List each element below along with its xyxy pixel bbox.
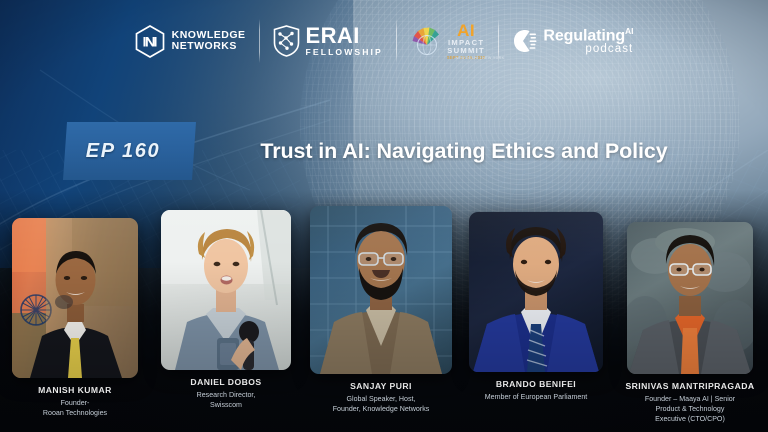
speaker-meta: MANISH KUMAR Founder- Rooan Technologies <box>36 385 114 419</box>
logo-erai-fellowship[interactable]: ERAI FELLOWSHIP <box>260 18 396 64</box>
sanjay-puri-photo <box>310 206 452 374</box>
speaker-meta: SANJAY PURI Global Speaker, Host, Founde… <box>331 381 432 415</box>
daniel-dobos-photo <box>161 210 291 370</box>
speaker-name: MANISH KUMAR <box>38 385 112 395</box>
colorful-fan-globe-icon <box>410 21 444 61</box>
speaker-name: BRANDO BENIFEI <box>485 379 588 389</box>
logo-summit-title: AI <box>447 22 485 39</box>
logo-summit-line3: SUMMIT <box>447 47 485 55</box>
speaker-card: BRANDO BENIFEI Member of European Parlia… <box>460 212 612 403</box>
manish-kumar-photo <box>12 218 138 378</box>
speaker-card: MANISH KUMAR Founder- Rooan Technologies <box>0 218 150 419</box>
logo-knowledge-networks[interactable]: KNOWLEDGE NETWORKS <box>122 18 259 64</box>
dotted-speech-mark-icon <box>512 28 538 54</box>
episode-number-label: EP 160 <box>86 140 160 163</box>
episode-title: Trust in AI: Navigating Ethics and Polic… <box>260 139 667 164</box>
speaker-meta: BRANDO BENIFEI Member of European Parlia… <box>483 379 590 403</box>
speaker-role: Founder – Maaya AI | Senior Product & Te… <box>625 395 754 424</box>
speaker-card: SANJAY PURI Global Speaker, Host, Founde… <box>302 206 460 415</box>
speaker-role: Founder- Rooan Technologies <box>38 399 112 419</box>
hexagon-kn-icon <box>135 25 165 58</box>
speaker-role: Member of European Parliament <box>485 393 588 403</box>
shield-network-icon <box>273 25 300 57</box>
podcast-episode-banner: KNOWLEDGE NETWORKS <box>0 0 768 432</box>
episode-title-wrapper: Trust in AI: Navigating Ethics and Polic… <box>196 122 750 180</box>
speaker-meta: SRINIVAS MANTRIPRAGADA Founder – Maaya A… <box>623 381 756 424</box>
logo-kn-line2: NETWORKS <box>172 41 246 52</box>
speaker-meta: DANIEL DOBOS Research Director, Swisscom <box>188 377 263 411</box>
speaker-card: SRINIVAS MANTRIPRAGADA Founder – Maaya A… <box>612 222 768 424</box>
speaker-role: Research Director, Swisscom <box>190 391 261 411</box>
logo-regai-subtitle: podcast <box>543 44 633 56</box>
episode-number-badge: EP 160 <box>50 122 196 180</box>
summit-sub-line2: GLOBAL IMPACT | AI FOR ALL <box>432 61 528 65</box>
speaker-name: SANJAY PURI <box>333 381 430 391</box>
speaker-card: DANIEL DOBOS Research Director, Swisscom <box>150 210 302 411</box>
logo-erai-title: ERAI <box>306 25 383 47</box>
sponsor-logo-strip: KNOWLEDGE NETWORKS <box>0 10 768 72</box>
speaker-role: Global Speaker, Host, Founder, Knowledge… <box>333 395 430 415</box>
episode-title-band-content: EP 160 Trust in AI: Navigating Ethics an… <box>50 122 750 180</box>
brando-benifei-photo <box>469 212 603 372</box>
logo-regai-title-sup: AI <box>625 26 633 36</box>
logo-regai-title: Regulating <box>543 27 625 44</box>
summit-sub-caption: NEW DELHI | NEW YORK GLOBAL IMPACT | AI … <box>432 56 528 64</box>
speaker-name: DANIEL DOBOS <box>190 377 261 387</box>
logo-erai-subtitle: FELLOWSHIP <box>306 48 383 57</box>
speaker-row: MANISH KUMAR Founder- Rooan Technologies <box>0 196 768 432</box>
speaker-name: SRINIVAS MANTRIPRAGADA <box>625 381 754 391</box>
srinivas-mantripragada-photo <box>627 222 753 374</box>
